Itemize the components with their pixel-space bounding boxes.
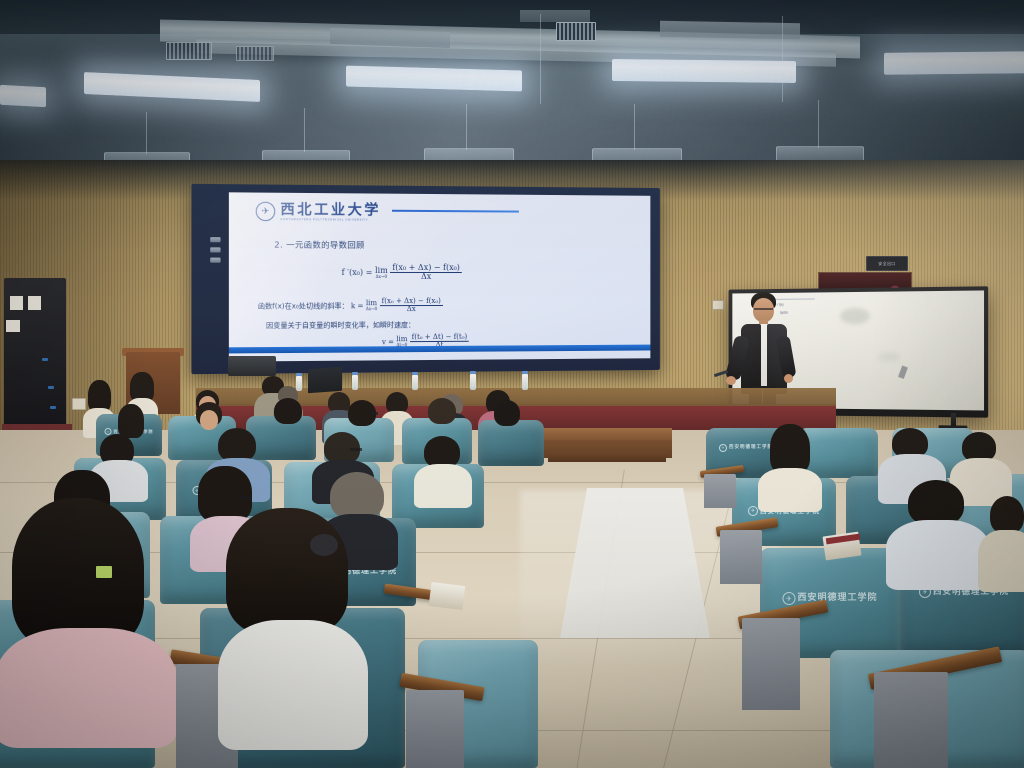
formula3-lhs: v = <box>382 338 394 346</box>
chair-logo-r7: ✈ 西安明德理工学院 <box>782 592 877 605</box>
lecturer-head <box>753 298 774 322</box>
exit-sign-label: 安全出口 <box>878 261 895 267</box>
whiteboard-marker[interactable] <box>898 365 908 378</box>
water-bottle-3[interactable] <box>412 375 418 390</box>
rack-note-2 <box>28 296 41 310</box>
slide-line-2: 函数f(x)在x₀处切线的斜率： k = lim Δx→0 f(x₀ + Δx)… <box>258 298 443 314</box>
armside-r1 <box>704 474 736 508</box>
notebook-left[interactable] <box>429 582 466 610</box>
glasses-icon-l9 <box>350 448 362 451</box>
screen-ridge-1 <box>210 237 220 242</box>
ceiling-panel-3 <box>520 10 590 22</box>
formula1-lim-sub: Δx→0 <box>375 275 388 279</box>
lecturer-hand-right <box>784 374 793 383</box>
ceiling-vent-1 <box>556 22 596 41</box>
slide-logo-en: NORTHWESTERN POLYTECHNICAL UNIVERSITY <box>280 218 381 222</box>
rack-note-1 <box>10 296 23 310</box>
wall-socket-c[interactable] <box>712 300 724 310</box>
water-bottle-1[interactable] <box>296 376 302 391</box>
water-bottle-4[interactable] <box>470 374 476 390</box>
hair-tie <box>310 534 338 556</box>
line2-denominator: Δx <box>380 306 443 314</box>
ceiling <box>0 0 1024 185</box>
rack-note-3 <box>6 320 20 332</box>
water-bottle-5[interactable] <box>522 374 528 390</box>
rack-led-3 <box>50 406 56 409</box>
laptop[interactable] <box>308 367 342 393</box>
ceiling-vent-3 <box>236 46 274 61</box>
water-bottle-cap-1 <box>296 373 302 376</box>
npu-emblem-glyph: ✈ <box>262 206 270 217</box>
ceiling-vent-2 <box>166 42 212 60</box>
line2-limit: lim Δx→0 <box>366 300 378 311</box>
slide-university-logo: ✈ 西北工业大学 NORTHWESTERN POLYTECHNICAL UNIV… <box>256 202 381 222</box>
stage-top-face <box>540 428 672 440</box>
rack-led-2 <box>48 386 54 389</box>
whiteboard-smudge-2 <box>878 352 900 362</box>
lecture-hall-photo: 安全出口 ✈ 西北工业大学 NORTHWESTERN POLYTECHNICAL… <box>0 0 1024 768</box>
screen-ridge-2 <box>210 247 220 252</box>
lecturer-glasses-icon <box>754 308 773 310</box>
formula1-fraction: f(x₀ + Δx) − f(x₀) Δx <box>390 264 462 282</box>
sticky-note <box>96 566 112 578</box>
armside-r4 <box>720 530 762 584</box>
rack-led-1 <box>42 358 48 361</box>
projector-unit <box>228 356 276 376</box>
line2-text: 函数f(x)在x₀处切线的斜率： <box>258 302 349 310</box>
slide-line-3: 因变量关于自变量的瞬时变化率，如瞬时速度： <box>266 320 415 331</box>
chair-l6[interactable] <box>478 420 544 466</box>
projected-slide: ✈ 西北工业大学 NORTHWESTERN POLYTECHNICAL UNIV… <box>229 192 651 361</box>
wall-outlet-left[interactable] <box>72 398 86 410</box>
line2-lim-sub: Δx→0 <box>366 307 378 311</box>
chair-logo-r1: ✈ 西安明德理工学院 <box>719 444 773 452</box>
water-bottle-cap-5 <box>522 371 528 374</box>
stage-step <box>548 452 666 462</box>
lecturer-hand-left <box>726 376 736 385</box>
formula1-lhs: f ′(x₀) = <box>342 268 373 277</box>
slide-formula-1: f ′(x₀) = lim Δx→0 f(x₀ + Δx) − f(x₀) Δx <box>342 264 462 282</box>
formula1-denominator: Δx <box>390 273 462 281</box>
armside-r7 <box>742 618 800 710</box>
line2-lhs: k = <box>351 302 363 310</box>
screen-ridge-3 <box>210 258 220 263</box>
line2-fraction: f(x₀ + Δx) − f(x₀) Δx <box>380 298 443 314</box>
equipment-rack <box>4 278 66 428</box>
ceiling-panel-2 <box>660 21 800 39</box>
exit-sign: 安全出口 <box>866 256 908 271</box>
formula1-limit: lim Δx→0 <box>375 267 388 279</box>
glasses-icon-l12 <box>238 496 252 500</box>
slide-logo-cn: 西北工业大学 <box>280 202 381 217</box>
armside-l16 <box>406 690 464 768</box>
npu-emblem-icon: ✈ <box>256 202 276 221</box>
chair-logo-text: 西安明德理工学院 <box>729 446 773 451</box>
slide-logo-rule <box>392 210 519 213</box>
water-bottle-2[interactable] <box>352 375 358 390</box>
glasses-icon-l4 <box>368 412 378 415</box>
armside-r9 <box>874 672 948 768</box>
water-bottle-cap-3 <box>412 372 418 375</box>
slide-heading: 2. 一元函数的导数回顾 <box>274 238 364 250</box>
whiteboard-smudge-1 <box>840 308 870 324</box>
water-bottle-cap-4 <box>470 371 476 374</box>
water-bottle-cap-2 <box>352 372 358 375</box>
projection-screen: ✈ 西北工业大学 NORTHWESTERN POLYTECHNICAL UNIV… <box>191 184 659 374</box>
